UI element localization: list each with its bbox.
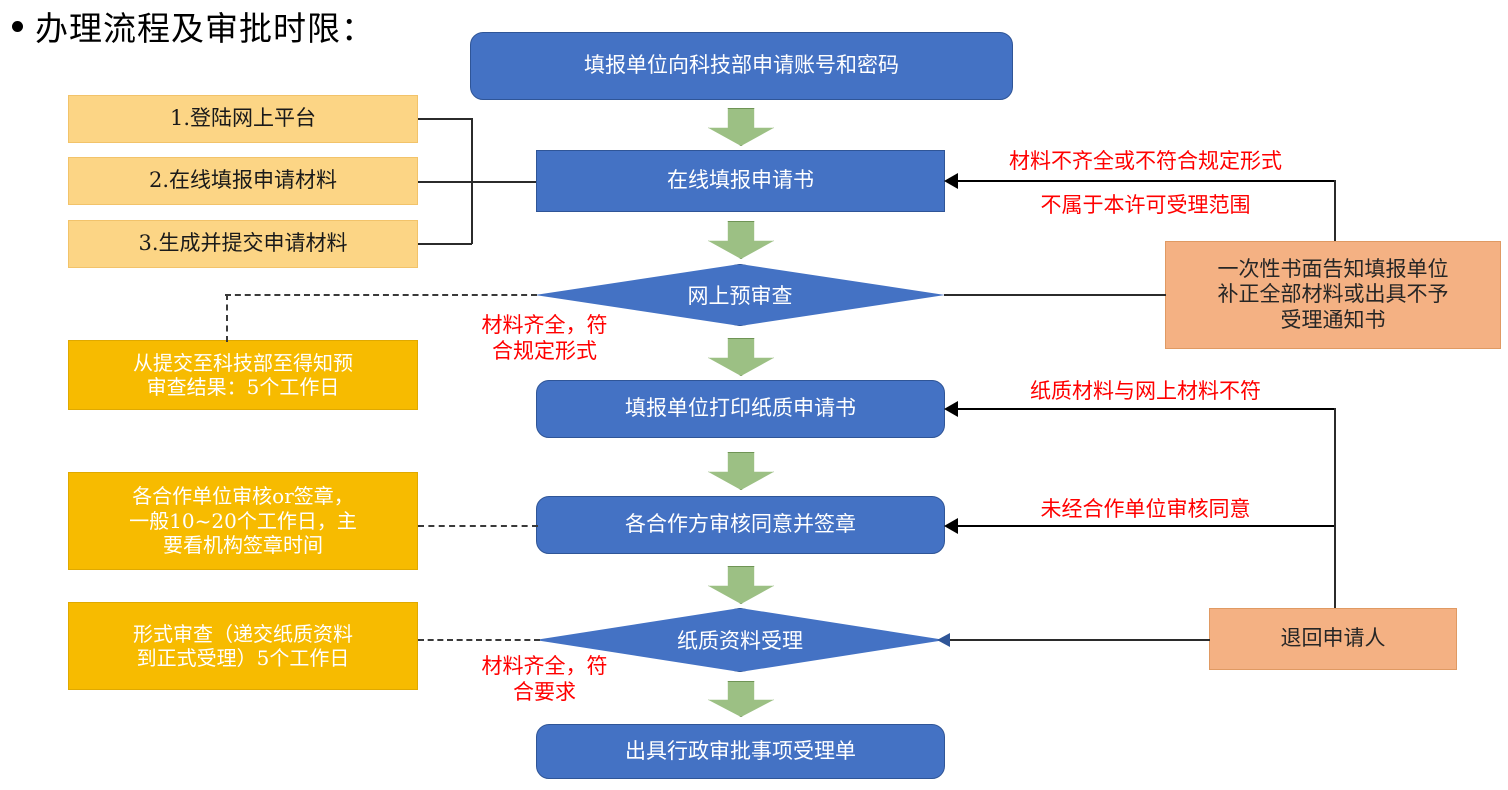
node-apply-account-label: 填报单位向科技部申请账号和密码 bbox=[584, 53, 899, 79]
node-online-fill[interactable]: 在线填报申请书 bbox=[536, 150, 945, 212]
note-formal-days[interactable]: 形式审查（递交纸质资料 到正式受理）5个工作日 bbox=[68, 602, 418, 690]
step-box-3[interactable]: 3.生成并提交申请材料 bbox=[68, 220, 418, 268]
reject-line-top-vertical bbox=[1334, 180, 1336, 242]
reject-line-right-vertical bbox=[1334, 408, 1336, 640]
note-partner-days-label: 各合作单位审核or签章， 一般10~20个工作日，主 要看机构签章时间 bbox=[129, 484, 357, 557]
node-issue-receipt[interactable]: 出具行政审批事项受理单 bbox=[536, 724, 945, 779]
down-arrow-icon-5 bbox=[708, 566, 774, 604]
dashed-line-prereview-note-vert bbox=[226, 294, 228, 342]
node-paper-accept-label: 纸质资料受理 bbox=[535, 608, 945, 672]
node-return-applicant-label: 退回申请人 bbox=[1281, 626, 1386, 652]
page-title-text: 办理流程及审批时限： bbox=[35, 2, 375, 50]
node-partners-sign[interactable]: 各合作方审核同意并签章 bbox=[536, 496, 945, 554]
line-paper-accept-to-return bbox=[944, 639, 1210, 641]
down-arrow-icon-6 bbox=[708, 681, 774, 717]
dashed-line-formal-note bbox=[418, 639, 540, 641]
step-box-2[interactable]: 2.在线填报申请材料 bbox=[68, 157, 418, 205]
dashed-line-partner-note bbox=[418, 525, 538, 527]
bracket-middle-line bbox=[418, 181, 536, 183]
bracket-top-line bbox=[418, 118, 472, 120]
arrowhead-into-print-paper bbox=[944, 401, 958, 417]
line-prereview-to-notice bbox=[944, 294, 1166, 296]
step-box-1[interactable]: 1.登陆网上平台 bbox=[68, 95, 418, 143]
node-online-prereview-label: 网上预审查 bbox=[535, 264, 945, 326]
down-arrow-icon-1 bbox=[708, 108, 774, 146]
node-written-notice-label: 一次性书面告知填报单位 补正全部材料或出具不予 受理通知书 bbox=[1218, 257, 1449, 334]
arrowhead-into-partners-sign bbox=[944, 518, 958, 534]
node-issue-receipt-label: 出具行政审批事项受理单 bbox=[625, 739, 856, 765]
ann-out-of-scope: 不属于本许可受理范围 bbox=[958, 192, 1333, 218]
node-print-paper[interactable]: 填报单位打印纸质申请书 bbox=[536, 380, 945, 438]
bracket-bottom-line bbox=[418, 243, 472, 245]
node-written-notice[interactable]: 一次性书面告知填报单位 补正全部材料或出具不予 受理通知书 bbox=[1165, 241, 1501, 349]
reject-line-top-horizontal bbox=[958, 180, 1336, 182]
reject-line-mid-horizontal bbox=[958, 408, 1336, 410]
note-formal-days-label: 形式审查（递交纸质资料 到正式受理）5个工作日 bbox=[133, 622, 353, 671]
page-title: 办理流程及审批时限： bbox=[6, 2, 476, 50]
node-online-fill-label: 在线填报申请书 bbox=[667, 168, 814, 194]
arrowhead-into-online-fill bbox=[944, 173, 958, 189]
node-apply-account[interactable]: 填报单位向科技部申请账号和密码 bbox=[470, 32, 1013, 100]
node-partners-sign-label: 各合作方审核同意并签章 bbox=[625, 512, 856, 538]
down-arrow-icon-4 bbox=[708, 452, 774, 490]
reject-line-partner-horizontal bbox=[958, 525, 1336, 527]
node-online-prereview[interactable]: 网上预审查 bbox=[535, 264, 945, 326]
ann-no-partner-approval: 未经合作单位审核同意 bbox=[958, 496, 1333, 522]
step-box-1-label: 1.登陆网上平台 bbox=[170, 106, 316, 132]
step-box-2-label: 2.在线填报申请材料 bbox=[149, 168, 337, 194]
slide-canvas: 办理流程及审批时限： 1.登陆网上平台 2.在线填报申请材料 3.生成并提交申请… bbox=[0, 0, 1508, 790]
note-prereview-days-label: 从提交至科技部至得知预 审查结果：5个工作日 bbox=[133, 351, 353, 400]
node-print-paper-label: 填报单位打印纸质申请书 bbox=[625, 396, 856, 422]
ann-paper-mismatch: 纸质材料与网上材料不符 bbox=[958, 378, 1333, 404]
node-return-applicant[interactable]: 退回申请人 bbox=[1209, 608, 1457, 670]
dashed-line-prereview-note bbox=[225, 294, 537, 296]
down-arrow-icon-3 bbox=[708, 338, 774, 376]
node-paper-accept[interactable]: 纸质资料受理 bbox=[535, 608, 945, 672]
ann-incomplete: 材料不齐全或不符合规定形式 bbox=[958, 148, 1333, 174]
down-arrow-icon-2 bbox=[708, 221, 774, 259]
step-box-3-label: 3.生成并提交申请材料 bbox=[138, 231, 347, 257]
note-partner-days[interactable]: 各合作单位审核or签章， 一般10~20个工作日，主 要看机构签章时间 bbox=[68, 472, 418, 570]
bullet-icon bbox=[12, 21, 23, 32]
note-prereview-days[interactable]: 从提交至科技部至得知预 审查结果：5个工作日 bbox=[68, 340, 418, 410]
